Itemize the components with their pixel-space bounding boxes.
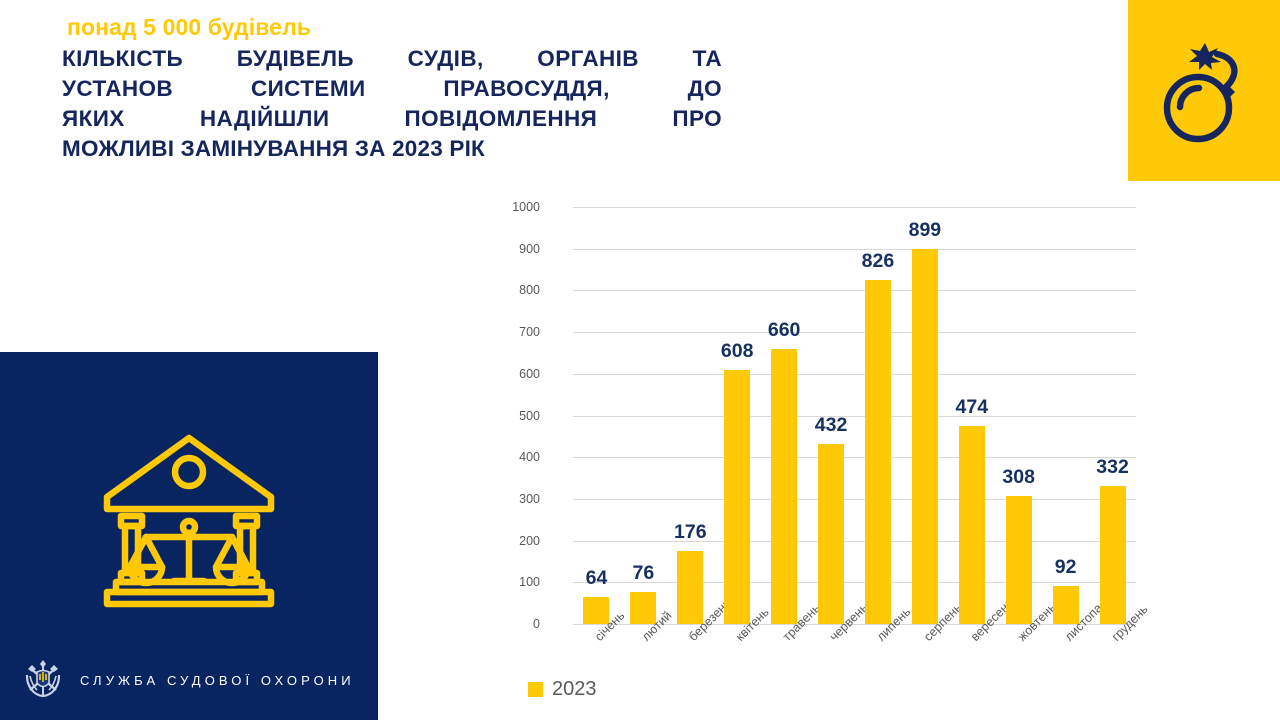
bar-value-label: 332 bbox=[1078, 456, 1148, 479]
bomb-icon bbox=[1156, 28, 1252, 153]
chart-legend: 2023 bbox=[528, 678, 597, 701]
title-line-4: МОЖЛИВІ ЗАМІНУВАННЯ ЗА 2023 РІК bbox=[62, 134, 722, 164]
bar[interactable] bbox=[959, 426, 985, 624]
gridline bbox=[573, 457, 1136, 458]
legend-label-2023: 2023 bbox=[552, 678, 597, 701]
bar[interactable] bbox=[912, 249, 938, 624]
bar[interactable] bbox=[771, 349, 797, 624]
gridline bbox=[573, 374, 1136, 375]
gridline bbox=[573, 207, 1136, 208]
brand-name: СЛУЖБА СУДОВОЇ ОХОРОНИ bbox=[80, 673, 355, 688]
bar[interactable] bbox=[724, 370, 750, 624]
bar-value-label: 308 bbox=[984, 466, 1054, 489]
y-axis-tick: 400 bbox=[496, 450, 540, 464]
bar[interactable] bbox=[818, 444, 844, 624]
gridline bbox=[573, 499, 1136, 500]
buildings-count-heading: понад 5 000 будівель bbox=[0, 14, 378, 41]
y-axis-tick: 900 bbox=[496, 242, 540, 256]
bar[interactable] bbox=[1100, 486, 1126, 624]
y-axis-tick: 700 bbox=[496, 325, 540, 339]
bar-value-label: 899 bbox=[890, 219, 960, 242]
courthouse-scales-icon bbox=[96, 424, 282, 615]
title-line-3: ЯКИХ НАДІЙШЛИ ПОВІДОМЛЕННЯ ПРО bbox=[62, 104, 722, 134]
service-emblem-icon bbox=[20, 655, 66, 706]
bar-value-label: 92 bbox=[1031, 556, 1101, 579]
bar[interactable] bbox=[865, 280, 891, 624]
title-line-2: УСТАНОВ СИСТЕМИ ПРАВОСУДДЯ, ДО bbox=[62, 74, 722, 104]
title-line-1: КІЛЬКІСТЬ БУДІВЕЛЬ СУДІВ, ОРГАНІВ ТА bbox=[62, 44, 722, 74]
bar-value-label: 660 bbox=[749, 319, 819, 342]
y-axis-tick: 100 bbox=[496, 575, 540, 589]
bar[interactable] bbox=[677, 551, 703, 624]
y-axis-tick: 200 bbox=[496, 534, 540, 548]
gridline bbox=[573, 290, 1136, 291]
bomb-panel bbox=[1128, 0, 1280, 181]
y-axis-tick: 0 bbox=[496, 617, 540, 631]
legend-swatch-2023 bbox=[528, 682, 543, 697]
y-axis-tick: 500 bbox=[496, 409, 540, 423]
bar-value-label: 176 bbox=[655, 521, 725, 544]
y-axis-tick: 300 bbox=[496, 492, 540, 506]
slide-canvas: КІЛЬКІСТЬ БУДІВЕЛЬ СУДІВ, ОРГАНІВ ТА УСТ… bbox=[0, 0, 1280, 720]
y-axis-tick: 600 bbox=[496, 367, 540, 381]
bar[interactable] bbox=[1053, 586, 1079, 624]
brand-row: СЛУЖБА СУДОВОЇ ОХОРОНИ bbox=[20, 655, 355, 706]
page-title: КІЛЬКІСТЬ БУДІВЕЛЬ СУДІВ, ОРГАНІВ ТА УСТ… bbox=[62, 44, 722, 164]
plot-area: 0100200300400500600700800900100064січень… bbox=[573, 207, 1136, 624]
bar[interactable] bbox=[1006, 496, 1032, 624]
bar-chart: 0100200300400500600700800900100064січень… bbox=[520, 196, 1160, 720]
bar-value-label: 608 bbox=[702, 340, 772, 363]
bar-value-label: 432 bbox=[796, 414, 866, 437]
y-axis-tick: 800 bbox=[496, 283, 540, 297]
bar-value-label: 826 bbox=[843, 250, 913, 273]
y-axis-tick: 1000 bbox=[496, 200, 540, 214]
bar-value-label: 474 bbox=[937, 396, 1007, 419]
bar-value-label: 76 bbox=[608, 562, 678, 585]
gridline bbox=[573, 332, 1136, 333]
